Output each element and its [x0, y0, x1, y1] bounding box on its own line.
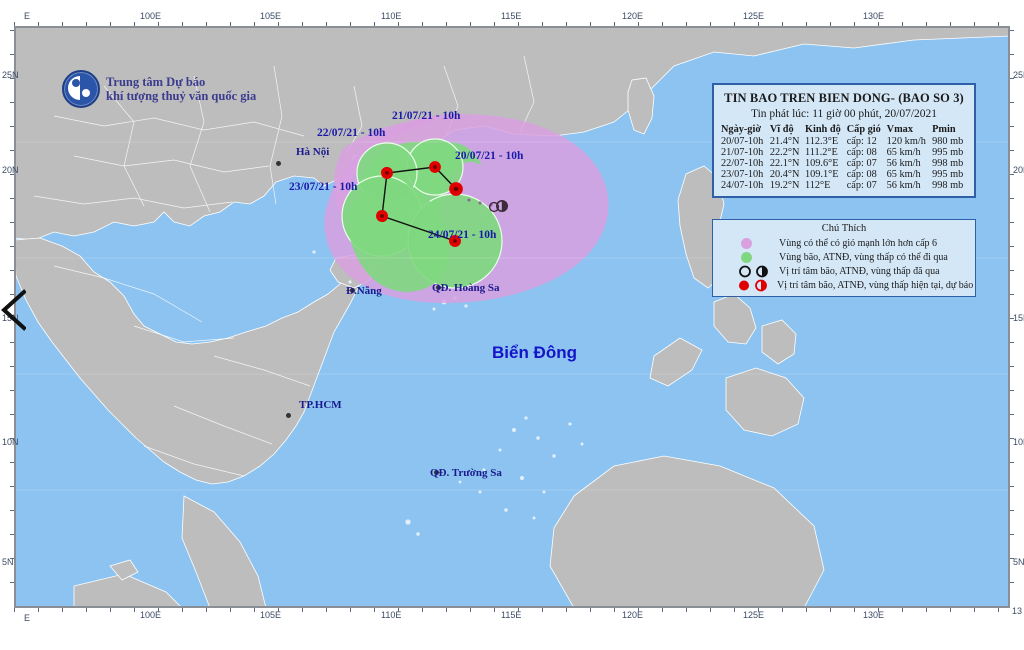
axis-tick-mark: [1010, 174, 1014, 175]
legend-item-label: Vị trí tâm bão, ATNĐ, vùng thấp hiện tại…: [777, 280, 973, 291]
axis-tick-mark: [14, 22, 15, 26]
axis-tick-mark: [398, 608, 399, 612]
lat-right-bottom-label: 13: [1012, 606, 1022, 616]
axis-tick-mark: [878, 22, 879, 26]
forecast-cell-lon: 111.2°E: [804, 147, 846, 158]
bulletin-title: TIN BAO TREN BIEN DONG- (BAO SO 3): [720, 91, 968, 106]
axis-tick-mark: [1010, 126, 1014, 127]
place-marker-dot: [276, 161, 281, 166]
forecast-cell-lon: 112°E: [804, 180, 846, 191]
lat-tick-label: 5N: [1013, 557, 1024, 567]
organization-name: Trung tâm Dự báo khí tượng thuỷ văn quốc…: [106, 75, 256, 104]
forecast-cell-lat: 22.2°N: [769, 147, 804, 158]
forecast-col-header-3: Cấp gió: [846, 124, 886, 136]
axis-tick-mark: [1010, 534, 1014, 535]
axis-tick-mark: [1010, 462, 1014, 463]
axis-tick-mark: [470, 608, 471, 612]
axis-tick-mark: [10, 342, 14, 343]
bulletin-issue-time: Tin phát lúc: 11 giờ 00 phút, 20/07/2021: [720, 108, 968, 120]
map-bottom-border: [14, 606, 1010, 608]
axis-tick-mark: [950, 22, 951, 26]
legend-title: Chú Thích: [718, 223, 970, 234]
axis-tick-mark: [10, 150, 14, 151]
axis-tick-mark: [10, 510, 14, 511]
lon-tick-label: 110E: [381, 11, 401, 21]
place-label: Hà Nội: [296, 146, 329, 158]
axis-tick-mark: [10, 462, 14, 463]
legend-item-label: Vị trí tâm bão, ATNĐ, vùng thấp đã qua: [779, 266, 940, 277]
place-label: QĐ. Hoàng Sa: [432, 282, 500, 294]
axis-tick-mark: [326, 608, 327, 612]
forecast-cell-vmax: 56 km/h: [886, 158, 931, 169]
axis-tick-mark: [10, 126, 14, 127]
axis-tick-mark: [10, 438, 14, 439]
axis-tick-mark: [710, 608, 711, 612]
axis-tick-mark: [134, 22, 135, 26]
axis-tick-mark: [158, 22, 159, 26]
lon-tick-label: 130E: [863, 11, 884, 21]
axis-tick-mark: [1010, 30, 1014, 31]
axis-tick-mark: [590, 608, 591, 612]
axis-tick-mark: [614, 608, 615, 612]
axis-tick-mark: [86, 608, 87, 612]
axis-tick-mark: [374, 22, 375, 26]
axis-tick-mark: [1010, 366, 1014, 367]
axis-tick-mark: [10, 270, 14, 271]
axis-tick-mark: [878, 608, 879, 612]
track-date-label: 22/07/21 - 10h: [317, 127, 385, 139]
axis-tick-mark: [662, 22, 663, 26]
axis-tick-mark: [10, 486, 14, 487]
axis-tick-mark: [926, 22, 927, 26]
axis-tick-mark: [446, 608, 447, 612]
forecast-cell-vmax: 120 km/h: [886, 136, 931, 147]
forecast-col-header-5: Pmin: [931, 124, 968, 136]
forecast-cell-lon: 109.1°E: [804, 169, 846, 180]
storm-bulletin-panel: TIN BAO TREN BIEN DONG- (BAO SO 3) Tin p…: [712, 83, 976, 198]
axis-tick-mark: [1010, 246, 1014, 247]
sea-name-label: Biển Đông: [492, 343, 577, 363]
typhoon-forecast-map-page: Hà NộiĐ.NẵngQĐ. Hoàng SaTP.HCMQĐ. Trường…: [0, 0, 1024, 650]
axis-tick-mark: [206, 22, 207, 26]
axis-tick-mark: [38, 22, 39, 26]
place-label: TP.HCM: [299, 399, 342, 411]
axis-tick-mark: [1010, 582, 1014, 583]
axis-tick-mark: [998, 608, 999, 612]
lon-tick-label: 105E: [260, 11, 281, 21]
axis-tick-mark: [998, 22, 999, 26]
axis-tick-mark: [950, 608, 951, 612]
mouse-cursor-arrow: [0, 288, 26, 332]
forecast-table-row: 20/07-10h21.4°N112.3°Ecấp: 12120 km/h980…: [720, 136, 968, 147]
forecast-cell-grade: cấp: 07: [846, 180, 886, 191]
axis-tick-mark: [806, 608, 807, 612]
axis-tick-mark: [278, 608, 279, 612]
axis-tick-mark: [350, 22, 351, 26]
axis-tick-mark: [1010, 78, 1014, 79]
axis-tick-mark: [590, 22, 591, 26]
forecast-cell-pmin: 998 mb: [931, 158, 968, 169]
axis-tick-mark: [806, 22, 807, 26]
axis-tick-mark: [830, 608, 831, 612]
lon-tick-label: 125E: [743, 610, 764, 620]
axis-tick-mark: [230, 22, 231, 26]
forecast-cell-lon: 109.6°E: [804, 158, 846, 169]
forecast-table-header: Ngày-giờVĩ độKinh độCấp gióVmaxPmin: [720, 124, 968, 136]
legend-item-label: Vùng bão, ATNĐ, vùng thấp có thể đi qua: [779, 252, 948, 263]
forecast-cell-vmax: 65 km/h: [886, 169, 931, 180]
axis-tick-mark: [518, 22, 519, 26]
forecast-table: Ngày-giờVĩ độKinh độCấp gióVmaxPmin 20/0…: [720, 124, 968, 191]
axis-tick-mark: [542, 22, 543, 26]
axis-tick-mark: [1010, 558, 1014, 559]
axis-tick-mark: [734, 22, 735, 26]
forecast-table-row: 23/07-10h20.4°N109.1°Ecấp: 0865 km/h995 …: [720, 169, 968, 180]
forecast-cell-lat: 22.1°N: [769, 158, 804, 169]
axis-tick-mark: [1010, 318, 1014, 319]
lon-edge-label-bottom: E: [24, 613, 30, 623]
axis-tick-mark: [10, 534, 14, 535]
axis-tick-mark: [10, 558, 14, 559]
forecast-cell-datetime: 23/07-10h: [720, 169, 769, 180]
axis-tick-mark: [14, 608, 15, 612]
axis-tick-mark: [10, 174, 14, 175]
axis-tick-mark: [1010, 414, 1014, 415]
axis-tick-mark: [10, 54, 14, 55]
forecast-cell-grade: cấp: 07: [846, 158, 886, 169]
lon-tick-label: 130E: [863, 610, 884, 620]
forecast-col-header-1: Vĩ độ: [769, 124, 804, 136]
axis-tick-mark: [10, 246, 14, 247]
place-marker-dot: [286, 413, 291, 418]
axis-tick-mark: [10, 366, 14, 367]
lon-tick-label: 100E: [140, 11, 161, 21]
legend-item: Vùng bão, ATNĐ, vùng thấp có thể đi qua: [718, 250, 970, 264]
forecast-col-header-2: Kinh độ: [804, 124, 846, 136]
axis-tick-mark: [518, 608, 519, 612]
axis-tick-mark: [350, 608, 351, 612]
nchmf-yinyang-logo-icon: [62, 70, 100, 108]
axis-tick-mark: [302, 22, 303, 26]
axis-tick-mark: [10, 102, 14, 103]
axis-tick-mark: [758, 608, 759, 612]
axis-tick-mark: [1010, 486, 1014, 487]
map-top-border: [14, 26, 1010, 28]
axis-tick-mark: [494, 22, 495, 26]
forecast-cell-pmin: 995 mb: [931, 169, 968, 180]
axis-tick-mark: [854, 22, 855, 26]
axis-tick-mark: [782, 608, 783, 612]
forecast-cell-lon: 112.3°E: [804, 136, 846, 147]
axis-tick-mark: [374, 608, 375, 612]
axis-tick-mark: [974, 608, 975, 612]
axis-tick-mark: [686, 608, 687, 612]
axis-tick-mark: [542, 608, 543, 612]
forecast-cell-vmax: 65 km/h: [886, 147, 931, 158]
past-cyclone-symbols: [719, 265, 773, 278]
forecast-table-row: 21/07-10h22.2°N111.2°Ecấp: 0865 km/h995 …: [720, 147, 968, 158]
axis-tick-mark: [110, 22, 111, 26]
lat-tick-label: 25N: [1013, 70, 1024, 80]
org-line-2: khí tượng thuỷ văn quốc gia: [106, 89, 256, 103]
forecast-col-header-0: Ngày-giờ: [720, 124, 769, 136]
axis-tick-mark: [1010, 150, 1014, 151]
forecast-cell-datetime: 20/07-10h: [720, 136, 769, 147]
axis-tick-mark: [782, 22, 783, 26]
axis-tick-mark: [1010, 390, 1014, 391]
map-legend: Chú Thích Vùng có thể có gió mạnh lớn hơ…: [712, 219, 976, 297]
axis-tick-mark: [662, 608, 663, 612]
place-label: Đ.Nẵng: [346, 285, 382, 297]
org-line-1: Trung tâm Dự báo: [106, 75, 256, 89]
track-date-label: 21/07/21 - 10h: [392, 110, 460, 122]
lon-edge-label-top: E: [24, 11, 30, 21]
forecast-cell-vmax: 56 km/h: [886, 180, 931, 191]
lon-tick-label: 125E: [743, 11, 764, 21]
axis-tick-mark: [302, 608, 303, 612]
axis-tick-mark: [10, 582, 14, 583]
axis-tick-mark: [1010, 510, 1014, 511]
axis-tick-mark: [686, 22, 687, 26]
purple-area-swatch: [741, 238, 752, 249]
forecast-cell-grade: cấp: 08: [846, 169, 886, 180]
map-right-border: [1008, 26, 1010, 608]
organization-logo: Trung tâm Dự báo khí tượng thuỷ văn quốc…: [62, 70, 256, 108]
forecast-table-row: 24/07-10h19.2°N112°Ecấp: 0756 km/h998 mb: [720, 180, 968, 191]
forecast-cell-pmin: 995 mb: [931, 147, 968, 158]
track-date-label: 23/07/21 - 10h: [289, 181, 357, 193]
axis-tick-mark: [62, 22, 63, 26]
legend-item: Vùng có thể có gió mạnh lớn hơn cấp 6: [718, 236, 970, 250]
axis-tick-mark: [398, 22, 399, 26]
forecast-cell-lat: 19.2°N: [769, 180, 804, 191]
forecast-col-header-4: Vmax: [886, 124, 931, 136]
place-label: QĐ. Trường Sa: [430, 467, 502, 479]
forecast-cell-lat: 21.4°N: [769, 136, 804, 147]
axis-tick-mark: [422, 22, 423, 26]
axis-tick-mark: [230, 608, 231, 612]
axis-tick-mark: [902, 22, 903, 26]
forecast-cell-datetime: 21/07-10h: [720, 147, 769, 158]
axis-tick-mark: [10, 30, 14, 31]
forecast-table-row: 22/07-10h22.1°N109.6°Ecấp: 0756 km/h998 …: [720, 158, 968, 169]
lon-tick-label: 120E: [622, 610, 643, 620]
axis-tick-mark: [10, 222, 14, 223]
axis-tick-mark: [614, 22, 615, 26]
axis-tick-mark: [134, 608, 135, 612]
forecast-cell-pmin: 980 mb: [931, 136, 968, 147]
lon-tick-label: 115E: [501, 11, 521, 21]
axis-tick-mark: [854, 608, 855, 612]
forecast-cell-grade: cấp: 08: [846, 147, 886, 158]
forecast-cell-datetime: 24/07-10h: [720, 180, 769, 191]
forecast-map-canvas[interactable]: Hà NộiĐ.NẵngQĐ. Hoàng SaTP.HCMQĐ. Trường…: [14, 26, 1010, 608]
axis-tick-mark: [902, 608, 903, 612]
forecast-cell-grade: cấp: 12: [846, 136, 886, 147]
axis-tick-mark: [710, 22, 711, 26]
axis-tick-mark: [830, 22, 831, 26]
axis-tick-mark: [422, 608, 423, 612]
axis-tick-mark: [326, 22, 327, 26]
lat-tick-label: 10N: [1013, 437, 1024, 447]
legend-item: Vị trí tâm bão, ATNĐ, vùng thấp hiện tại…: [718, 278, 970, 292]
axis-tick-mark: [110, 608, 111, 612]
axis-tick-mark: [254, 22, 255, 26]
lat-tick-label: 20N: [1013, 165, 1024, 175]
axis-tick-mark: [470, 22, 471, 26]
axis-tick-mark: [974, 22, 975, 26]
axis-tick-mark: [206, 608, 207, 612]
forecast-cell-pmin: 998 mb: [931, 180, 968, 191]
forecast-cell-lat: 20.4°N: [769, 169, 804, 180]
axis-tick-mark: [86, 22, 87, 26]
axis-tick-mark: [758, 22, 759, 26]
axis-tick-mark: [446, 22, 447, 26]
axis-tick-mark: [1010, 342, 1014, 343]
axis-tick-mark: [1010, 438, 1014, 439]
lat-tick-label: 15N: [1013, 313, 1024, 323]
axis-tick-mark: [10, 198, 14, 199]
axis-tick-mark: [1010, 198, 1014, 199]
axis-tick-mark: [1010, 54, 1014, 55]
axis-tick-mark: [638, 22, 639, 26]
axis-tick-mark: [734, 608, 735, 612]
axis-tick-mark: [1010, 102, 1014, 103]
axis-tick-mark: [10, 414, 14, 415]
axis-tick-mark: [494, 608, 495, 612]
lon-tick-label: 120E: [622, 11, 643, 21]
axis-tick-mark: [10, 390, 14, 391]
current-forecast-cyclone-symbols: [718, 279, 772, 292]
axis-tick-mark: [1010, 270, 1014, 271]
axis-tick-mark: [278, 22, 279, 26]
legend-item: Vị trí tâm bão, ATNĐ, vùng thấp đã qua: [718, 264, 970, 278]
forecast-cell-datetime: 22/07-10h: [720, 158, 769, 169]
axis-tick-mark: [62, 608, 63, 612]
track-date-label: 24/07/21 - 10h: [428, 229, 496, 241]
axis-tick-mark: [254, 608, 255, 612]
axis-tick-mark: [566, 608, 567, 612]
axis-tick-mark: [38, 608, 39, 612]
green-area-swatch: [741, 252, 752, 263]
axis-tick-mark: [1010, 294, 1014, 295]
axis-tick-mark: [638, 608, 639, 612]
track-date-label: 20/07/21 - 10h: [455, 150, 523, 162]
axis-tick-mark: [182, 608, 183, 612]
axis-tick-mark: [182, 22, 183, 26]
axis-tick-mark: [10, 78, 14, 79]
axis-tick-mark: [158, 608, 159, 612]
axis-tick-mark: [1010, 222, 1014, 223]
axis-tick-mark: [566, 22, 567, 26]
legend-item-label: Vùng có thể có gió mạnh lớn hơn cấp 6: [779, 238, 937, 249]
axis-tick-mark: [926, 608, 927, 612]
